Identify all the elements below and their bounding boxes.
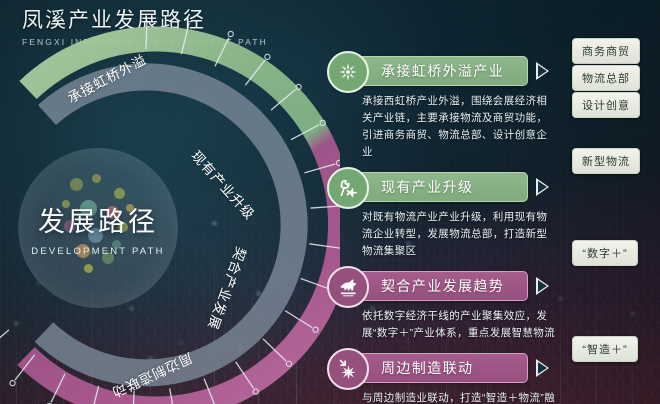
industry-tag-chip[interactable]: 新型物流 bbox=[572, 148, 640, 174]
path-card: 现有产业升级对既有物流产业产业升级，利用现有物流企业转型，发展物流总部，打造新型… bbox=[332, 172, 572, 260]
play-triangle-icon[interactable] bbox=[536, 178, 549, 196]
industry-tag-list: 商务商贸物流总部设计创意新型物流“数字＋”“智造＋” bbox=[572, 0, 660, 404]
development-path-wheel: 发展路径 DEVELOPMENT PATH 承接虹桥外溢 现有产业升级 契合产业… bbox=[0, 20, 340, 404]
arrow-in-spark-icon bbox=[327, 348, 369, 390]
path-card-header[interactable]: 承接虹桥外溢产业 bbox=[332, 56, 528, 86]
center-title: 发展路径 bbox=[38, 200, 158, 239]
path-card-title: 现有产业升级 bbox=[381, 177, 473, 197]
path-card-header[interactable]: 契合产业发展趋势 bbox=[332, 271, 528, 301]
industry-tag-chip[interactable]: “智造＋” bbox=[572, 336, 638, 362]
radiate-burst-icon bbox=[327, 51, 369, 93]
center-label-group: 发展路径 DEVELOPMENT PATH bbox=[18, 148, 178, 308]
path-card-title: 周边制造联动 bbox=[381, 358, 473, 378]
path-card-title: 承接虹桥外溢产业 bbox=[381, 61, 504, 81]
play-triangle-icon[interactable] bbox=[536, 277, 549, 295]
industry-tag-chip[interactable]: “数字＋” bbox=[572, 240, 638, 266]
play-triangle-icon[interactable] bbox=[536, 359, 549, 377]
infographic-canvas: 凤溪产业发展路径 FENGXI INDUSTRIAL DEVELOPMENT P… bbox=[0, 0, 660, 404]
path-card-header[interactable]: 现有产业升级 bbox=[332, 172, 528, 202]
wrench-spark-icon bbox=[327, 167, 369, 209]
rocket-trend-icon bbox=[327, 266, 369, 308]
industry-tag-chip[interactable]: 物流总部 bbox=[572, 65, 640, 91]
path-card-description: 对既有物流产业产业升级，利用现有物流企业转型，发展物流总部，打造新型物流集聚区 bbox=[362, 209, 558, 260]
path-card: 契合产业发展趋势依托数字经济干线的产业聚集效应，发展“数字＋”产业体系，重点发展… bbox=[332, 271, 572, 342]
path-card-description: 依托数字经济干线的产业聚集效应，发展“数字＋”产业体系，重点发展智慧物流 bbox=[362, 308, 558, 342]
path-card-description: 承接西虹桥产业外溢，围绕会展经济相关产业链，主要承接物流及商贸功能，引进商务商贸… bbox=[362, 93, 558, 161]
industry-tag-chip[interactable]: 设计创意 bbox=[572, 92, 640, 118]
play-triangle-icon[interactable] bbox=[536, 62, 549, 80]
path-card-list: 承接虹桥外溢产业承接西虹桥产业外溢，围绕会展经济相关产业链，主要承接物流及商贸功… bbox=[332, 56, 572, 404]
industry-tag-chip[interactable]: 商务商贸 bbox=[572, 38, 640, 64]
path-card-description: 与周边制造业联动，打造“智造＋物流”融合产业链 bbox=[362, 390, 558, 404]
center-subtitle: DEVELOPMENT PATH bbox=[31, 246, 164, 257]
path-card-title: 契合产业发展趋势 bbox=[381, 276, 504, 296]
path-card: 承接虹桥外溢产业承接西虹桥产业外溢，围绕会展经济相关产业链，主要承接物流及商贸功… bbox=[332, 56, 572, 161]
path-card: 周边制造联动与周边制造业联动，打造“智造＋物流”融合产业链 bbox=[332, 353, 572, 404]
path-card-header[interactable]: 周边制造联动 bbox=[332, 353, 528, 383]
